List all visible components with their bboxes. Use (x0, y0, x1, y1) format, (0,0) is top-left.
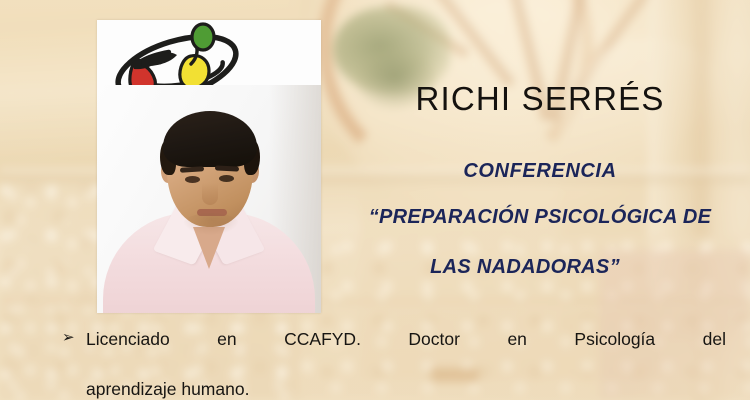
credentials-line-2: aprendizaje humano. (86, 377, 726, 400)
arrow-bullet-icon: ➢ (62, 327, 86, 345)
speaker-name: RICHI SERRÉS (340, 80, 740, 118)
speaker-portrait (97, 85, 321, 313)
portrait-chin (183, 213, 239, 235)
speaker-photo-card (97, 20, 321, 313)
talk-title-line-1: “PREPARACIÓN PSICOLÓGICA DE (330, 206, 750, 229)
portrait-eye-left (185, 176, 200, 183)
speaker-credentials: ➢ Licenciado en CCAFYD. Doctor en Psicol… (62, 327, 726, 400)
event-type-label: CONFERENCIA (340, 160, 740, 183)
portrait-eye-right (219, 175, 234, 182)
talk-title-line-2: LAS NADADORAS” (330, 256, 720, 279)
credentials-line-1: Licenciado en CCAFYD. Doctor en Psicolog… (86, 327, 726, 377)
portrait-nose (202, 183, 218, 205)
speaker-credentials-text: Licenciado en CCAFYD. Doctor en Psicolog… (86, 327, 726, 400)
conference-poster: RICHI SERRÉS CONFERENCIA “PREPARACIÓN PS… (0, 0, 750, 400)
